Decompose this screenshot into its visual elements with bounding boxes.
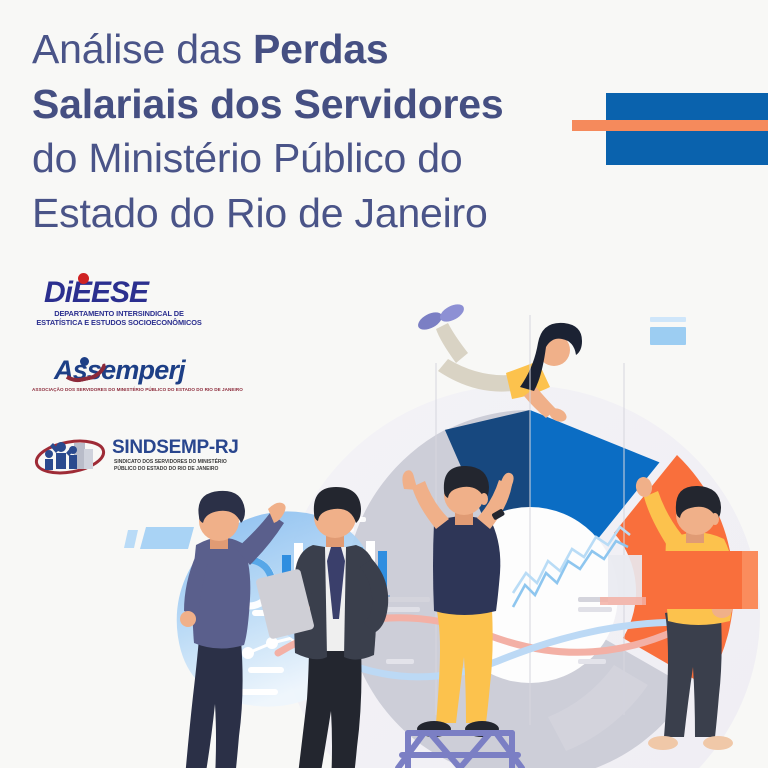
decoration-orange-bar	[572, 120, 768, 131]
orange-box	[652, 551, 742, 609]
man4-ear	[711, 513, 719, 525]
mini-card-icon	[650, 317, 686, 345]
page-title: Análise das Perdas Salariais dos Servido…	[32, 22, 632, 240]
data-analysis-team-illustration	[0, 255, 768, 768]
woman-shoe-right	[437, 301, 467, 326]
title-line-2-bold: Salariais dos Servidores	[32, 81, 504, 127]
title-line-1: Análise das Perdas	[32, 22, 632, 77]
man3-shirt	[433, 516, 500, 615]
man1-hand-low	[180, 611, 196, 627]
woman-legs	[436, 323, 468, 363]
poster-canvas: Análise das Perdas Salariais dos Servido…	[0, 0, 768, 768]
title-line-4: Estado do Rio de Janeiro	[32, 186, 632, 241]
title-line-1-plain: Análise das	[32, 26, 253, 72]
woman-body-lower	[438, 359, 512, 392]
title-line-1-bold: Perdas	[253, 26, 389, 72]
title-line-3: do Ministério Público do	[32, 131, 632, 186]
title-line-2: Salariais dos Servidores	[32, 77, 632, 132]
man3-ear	[480, 493, 488, 505]
man4-shoe-right	[703, 736, 733, 750]
man4-shoe-left	[648, 736, 678, 750]
orange-box-side	[742, 551, 758, 609]
decor-parallelograms	[124, 527, 194, 549]
